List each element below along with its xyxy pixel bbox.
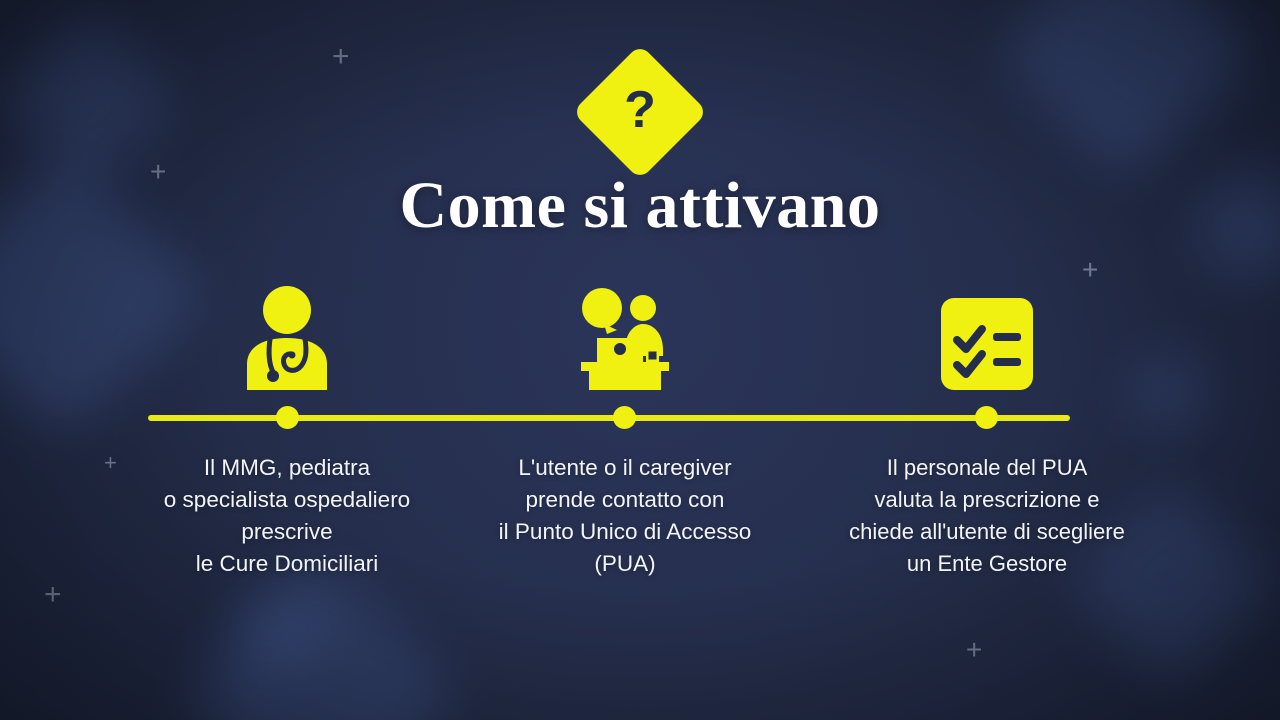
step-caption-3: Il personale del PUA valuta la prescrizi… <box>807 452 1167 580</box>
timeline-node-1 <box>276 406 299 429</box>
plus-icon: + <box>966 636 982 664</box>
step-column-1: Il MMG, pediatra o specialista ospedalie… <box>107 270 467 390</box>
background-blob <box>0 9 181 193</box>
step-column-3: Il personale del PUA valuta la prescrizi… <box>807 270 1167 390</box>
page-title: Come si attivano <box>0 168 1280 244</box>
step-caption-2: L'utente o il caregiver prende contatto … <box>445 452 805 580</box>
checklist-icon <box>807 270 1167 390</box>
background-blob <box>991 0 1260 185</box>
timeline-node-2 <box>613 406 636 429</box>
slide-canvas: ++++++ ? Come si attivano Il MMG, pediat… <box>0 0 1280 720</box>
timeline-node-3 <box>975 406 998 429</box>
step-column-2: L'utente o il caregiver prende contatto … <box>445 270 805 390</box>
doctor-stethoscope-icon <box>107 270 467 390</box>
background-blob <box>230 586 320 676</box>
question-mark-diamond-icon: ? <box>572 44 708 180</box>
plus-icon: + <box>332 42 350 72</box>
plus-icon: + <box>44 580 62 610</box>
reception-desk-icon <box>445 270 805 390</box>
step-caption-1: Il MMG, pediatra o specialista ospedalie… <box>107 452 467 580</box>
question-mark-glyph: ? <box>592 64 688 160</box>
